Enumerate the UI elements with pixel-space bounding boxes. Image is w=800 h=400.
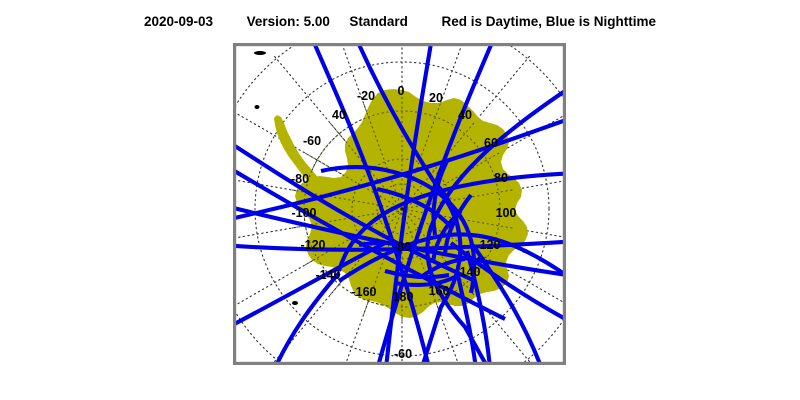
island-speck-3 — [292, 301, 298, 305]
title-mode: Standard — [349, 14, 408, 29]
figure-root: 2020-09-03 Version: 5.00 Standard Red is… — [0, 0, 800, 400]
island-speck-2 — [255, 105, 260, 109]
title-date: 2020-09-03 — [144, 14, 213, 29]
map-canvas — [235, 45, 564, 363]
figure-title: 2020-09-03 Version: 5.00 Standard Red is… — [0, 14, 800, 29]
polar-map-plot[interactable] — [233, 43, 566, 365]
title-legend: Red is Daytime, Blue is Nighttime — [441, 14, 656, 29]
island-speck-1 — [254, 51, 266, 55]
title-version: Version: 5.00 — [247, 14, 330, 29]
